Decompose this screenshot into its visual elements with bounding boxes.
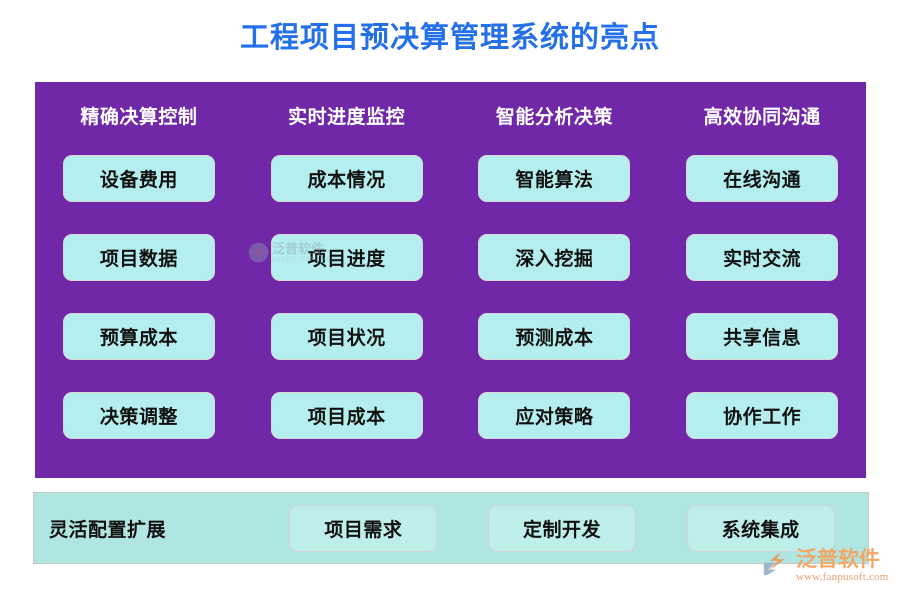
feature-matrix-panel: 精确决算控制 实时进度监控 智能分析决策 高效协同沟通 设备费用 成本情况 智能… xyxy=(35,82,866,478)
feature-chip[interactable]: 深入挖掘 xyxy=(478,234,630,281)
matrix-row: 项目数据 项目进度 深入挖掘 实时交流 xyxy=(35,234,866,281)
feature-chip[interactable]: 共享信息 xyxy=(686,313,838,360)
feature-chip[interactable]: 项目状况 xyxy=(271,313,423,360)
brand-url: www.fanpusoft.com xyxy=(796,571,889,584)
bottom-bar-label: 灵活配置扩展 xyxy=(34,515,264,542)
matrix-cell: 项目状况 xyxy=(243,313,451,360)
column-header-1: 精确决算控制 xyxy=(35,103,243,133)
feature-chip[interactable]: 决策调整 xyxy=(63,392,215,439)
matrix-cell: 项目成本 xyxy=(243,392,451,439)
matrix-row: 决策调整 项目成本 应对策略 协作工作 xyxy=(35,392,866,439)
matrix-cell: 在线沟通 xyxy=(658,155,866,202)
feature-chip[interactable]: 智能算法 xyxy=(478,155,630,202)
matrix-cell: 项目进度 xyxy=(243,234,451,281)
feature-chip[interactable]: 设备费用 xyxy=(63,155,215,202)
matrix-cell: 深入挖掘 xyxy=(451,234,659,281)
matrix-cell: 预算成本 xyxy=(35,313,243,360)
column-header-3: 智能分析决策 xyxy=(451,103,659,133)
feature-chip[interactable]: 成本情况 xyxy=(271,155,423,202)
brand-text: 泛普软件 www.fanpusoft.com xyxy=(796,549,889,584)
bottom-bar-chips: 项目需求 定制开发 系统集成 xyxy=(264,505,868,552)
matrix-cell: 应对策略 xyxy=(451,392,659,439)
feature-chip[interactable]: 预测成本 xyxy=(478,313,630,360)
matrix-cell: 项目数据 xyxy=(35,234,243,281)
brand-name: 泛普软件 xyxy=(796,549,889,571)
column-header-2: 实时进度监控 xyxy=(243,103,451,133)
matrix-cell: 共享信息 xyxy=(658,313,866,360)
feature-chip[interactable]: 项目数据 xyxy=(63,234,215,281)
brand-logo: 泛普软件 www.fanpusoft.com xyxy=(762,549,889,584)
slide-root: 工程项目预决算管理系统的亮点 精确决算控制 实时进度监控 智能分析决策 高效协同… xyxy=(0,0,900,600)
bottom-chip[interactable]: 项目需求 xyxy=(289,505,437,552)
column-header-4: 高效协同沟通 xyxy=(658,103,866,133)
page-title: 工程项目预决算管理系统的亮点 xyxy=(0,18,900,58)
matrix-rows: 设备费用 成本情况 智能算法 在线沟通 项目数据 项目进度 xyxy=(35,155,866,471)
matrix-cell: 预测成本 xyxy=(451,313,659,360)
matrix-row: 预算成本 项目状况 预测成本 共享信息 xyxy=(35,313,866,360)
bottom-chip[interactable]: 定制开发 xyxy=(488,505,636,552)
bottom-chip[interactable]: 系统集成 xyxy=(687,505,835,552)
feature-chip[interactable]: 实时交流 xyxy=(686,234,838,281)
bottom-config-bar: 灵活配置扩展 项目需求 定制开发 系统集成 xyxy=(33,492,869,564)
feature-chip[interactable]: 应对策略 xyxy=(478,392,630,439)
matrix-cell: 设备费用 xyxy=(35,155,243,202)
feature-chip[interactable]: 预算成本 xyxy=(63,313,215,360)
matrix-cell: 智能算法 xyxy=(451,155,659,202)
feature-chip[interactable]: 项目进度 xyxy=(271,234,423,281)
fanpu-brand-icon xyxy=(762,550,792,577)
matrix-cell: 决策调整 xyxy=(35,392,243,439)
matrix-cell: 实时交流 xyxy=(658,234,866,281)
matrix-row: 设备费用 成本情况 智能算法 在线沟通 xyxy=(35,155,866,202)
matrix-column-headers: 精确决算控制 实时进度监控 智能分析决策 高效协同沟通 xyxy=(35,103,866,133)
feature-chip[interactable]: 协作工作 xyxy=(686,392,838,439)
matrix-cell: 协作工作 xyxy=(658,392,866,439)
feature-chip[interactable]: 在线沟通 xyxy=(686,155,838,202)
feature-chip[interactable]: 项目成本 xyxy=(271,392,423,439)
matrix-cell: 成本情况 xyxy=(243,155,451,202)
